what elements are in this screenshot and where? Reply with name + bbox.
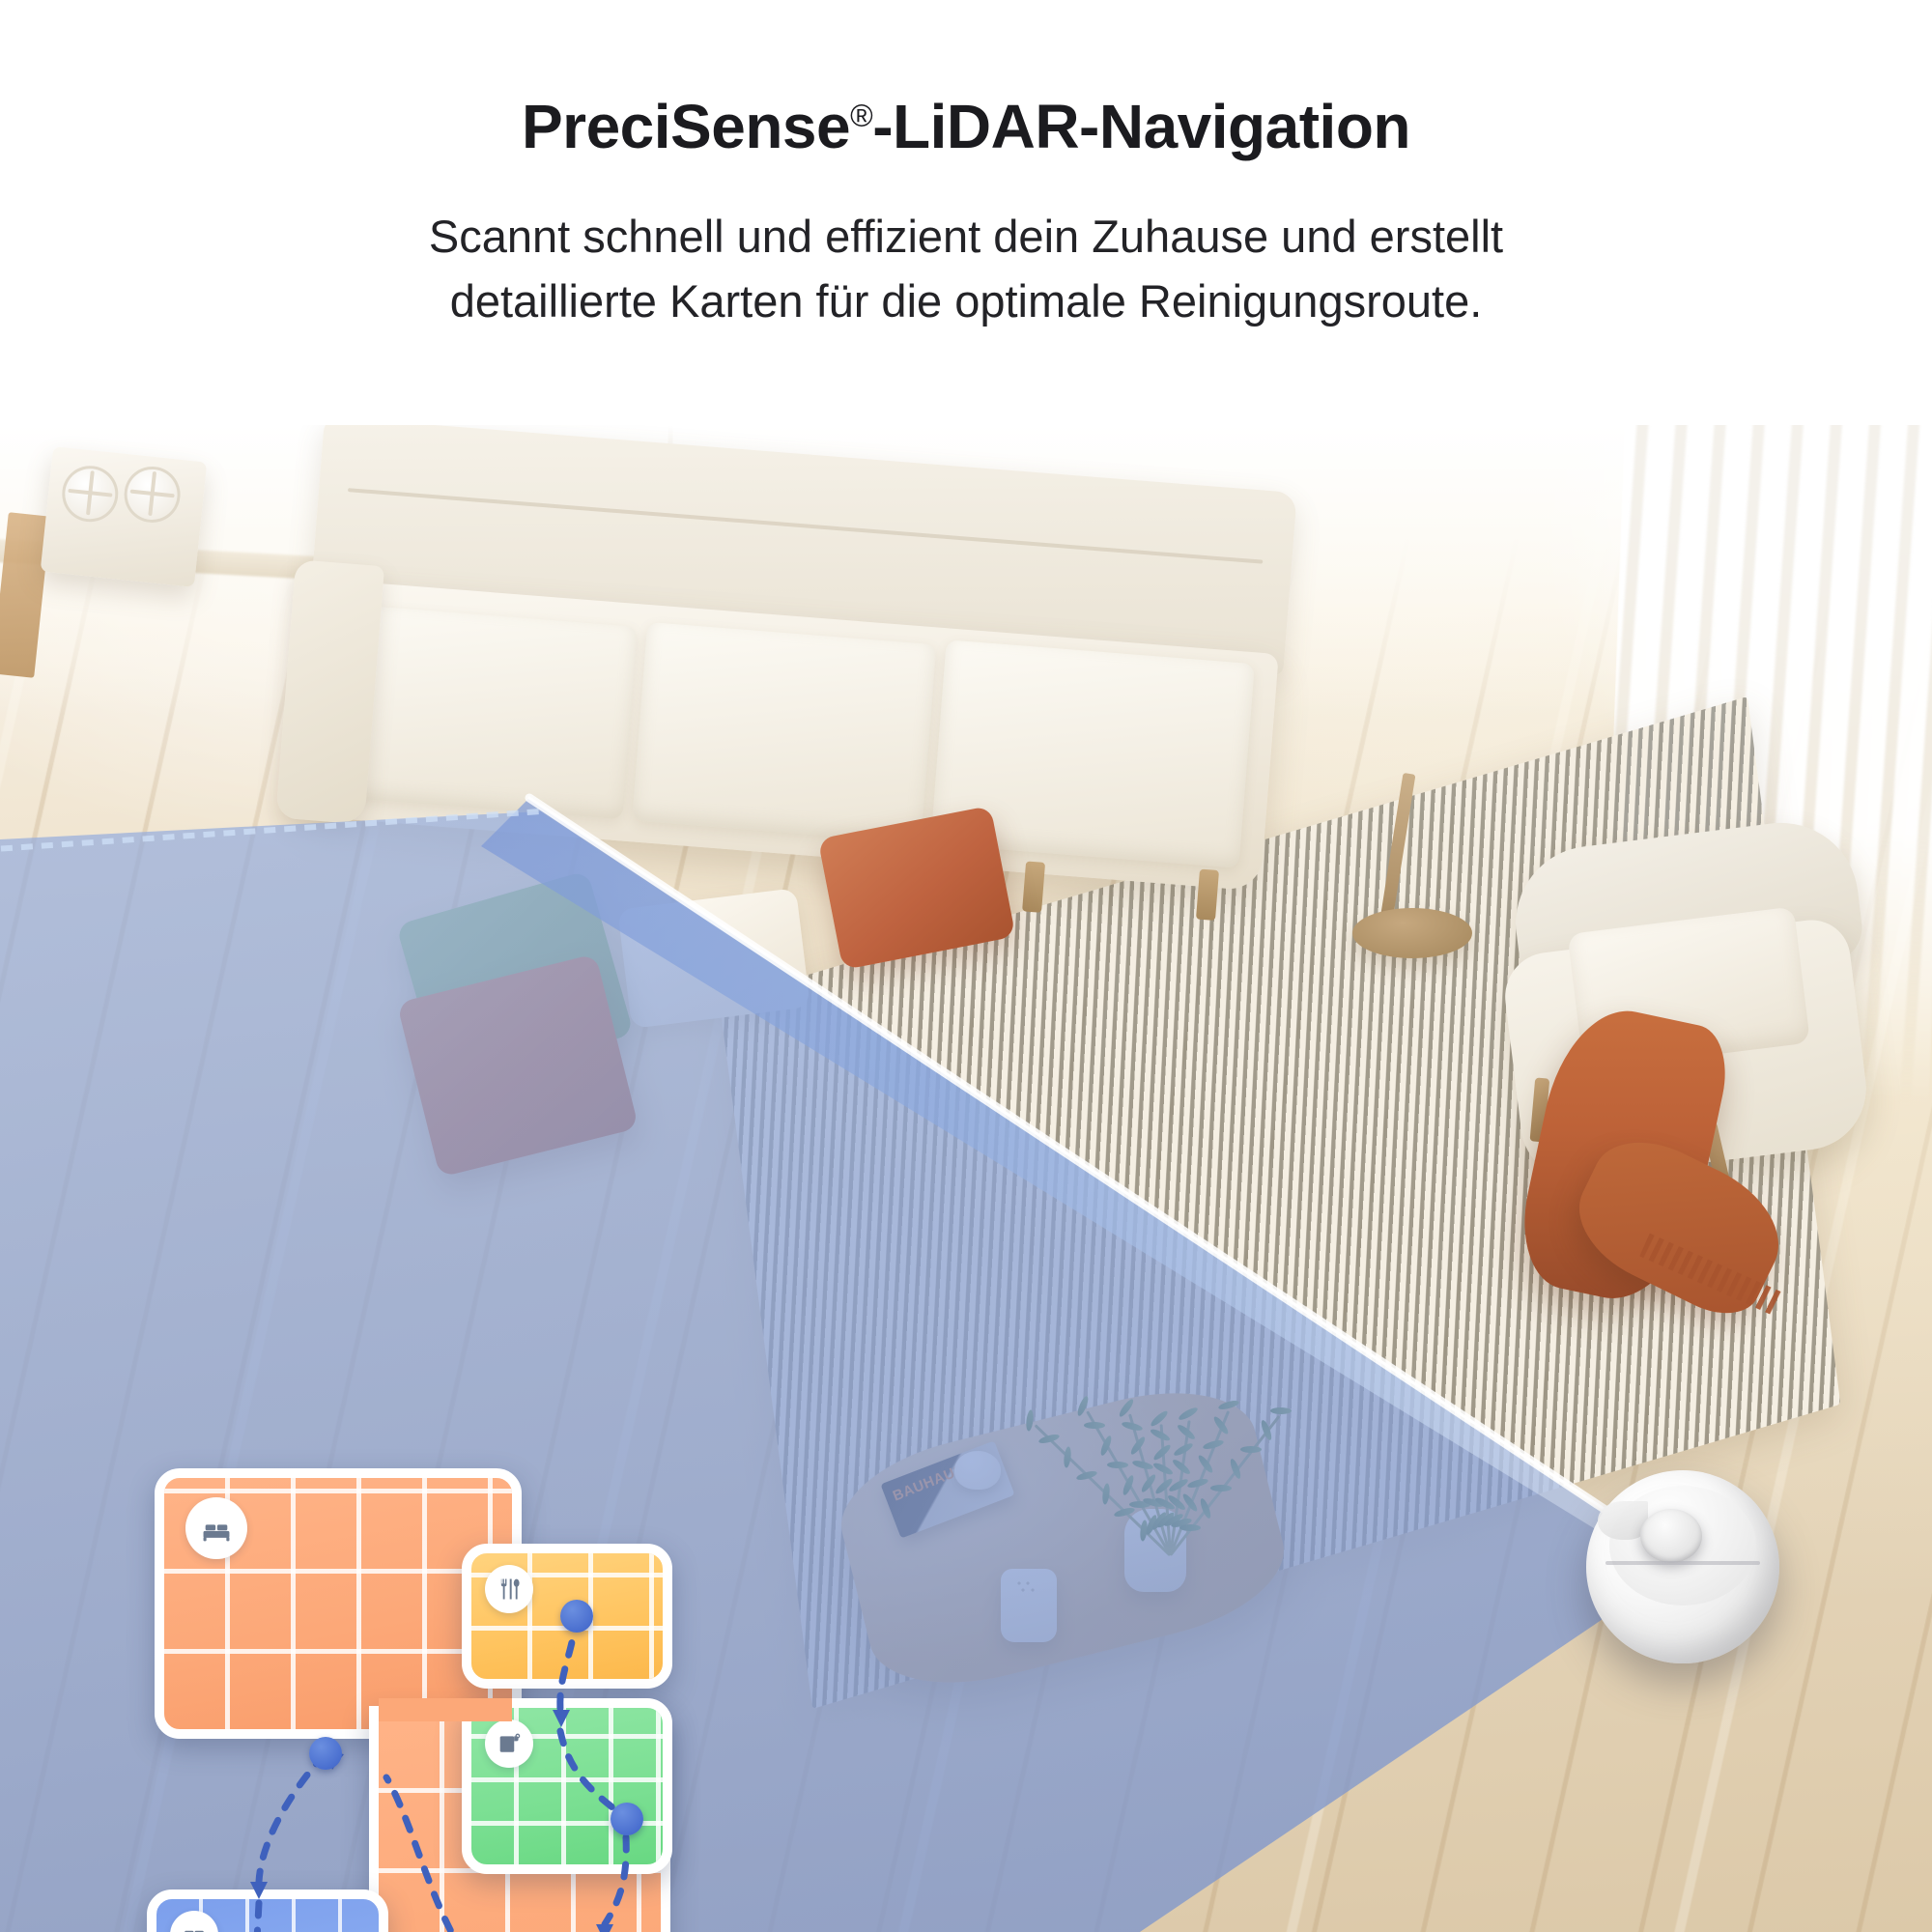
bed-icon-glyph xyxy=(200,1512,233,1545)
registered-mark-icon: ® xyxy=(850,99,872,133)
room-photo-scene: BAUHAUS xyxy=(0,425,1932,1932)
subtitle-line-1: Scannt schnell und effizient dein Zuhaus… xyxy=(429,211,1503,262)
map-room-livingroom[interactable] xyxy=(147,1889,388,1932)
sofa-icon-glyph xyxy=(181,1921,208,1932)
header-block: PreciSense®-LiDAR-Navigation Scannt schn… xyxy=(0,0,1932,425)
route-waypoint xyxy=(560,1600,593,1633)
route-waypoint xyxy=(309,1737,342,1770)
headline-suffix: -LiDAR-Navigation xyxy=(872,92,1410,161)
map-room-bathroom[interactable] xyxy=(462,1698,672,1874)
bed-icon xyxy=(185,1497,247,1559)
towel-icon-glyph xyxy=(496,1730,523,1757)
bedroom-seam-filler xyxy=(379,1698,512,1721)
cutlery-icon xyxy=(485,1565,533,1613)
room-map-overlay xyxy=(0,425,1932,1932)
cutlery-icon-glyph xyxy=(496,1576,523,1603)
subtitle-line-2: detaillierte Karten für die optimale Rei… xyxy=(450,275,1483,327)
route-waypoint xyxy=(611,1803,643,1835)
page-subtitle: Scannt schnell und effizient dein Zuhaus… xyxy=(429,205,1503,333)
headline-prefix: PreciSense xyxy=(522,92,850,161)
towel-icon xyxy=(485,1719,533,1768)
page-title: PreciSense®-LiDAR-Navigation xyxy=(522,93,1410,160)
